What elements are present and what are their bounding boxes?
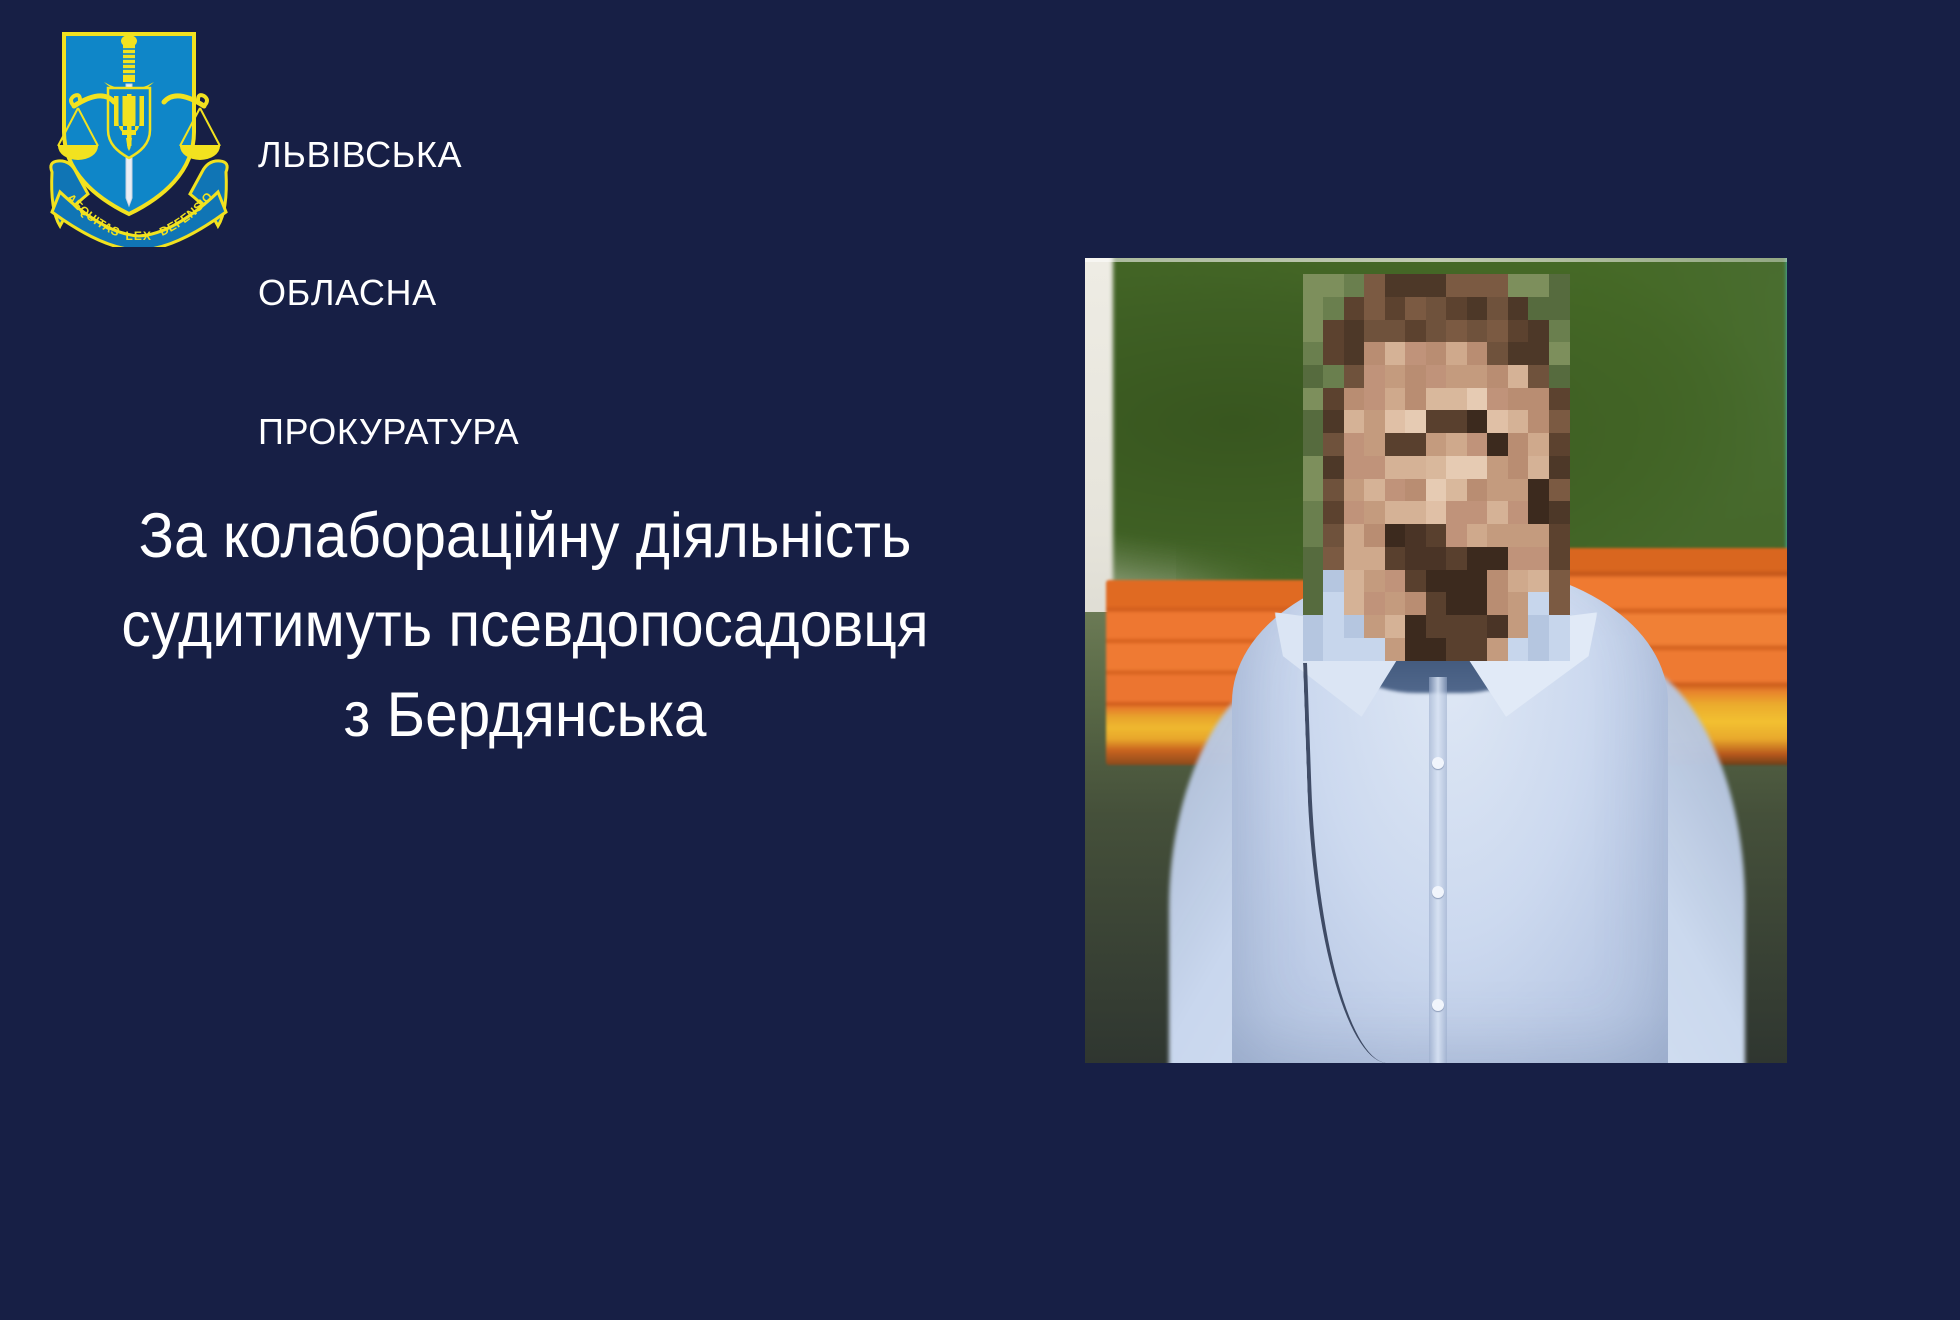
photo-pixel-block — [1364, 524, 1385, 547]
photo-pixel-block — [1364, 570, 1385, 593]
photo-pixel-block — [1303, 615, 1324, 638]
photo-pixel-block — [1385, 592, 1406, 615]
photo-pixel-block — [1303, 388, 1324, 411]
photo-pixel-block — [1344, 638, 1365, 661]
photo-pixel-block — [1508, 388, 1529, 411]
photo-pixel-block — [1426, 479, 1447, 502]
photo-pixel-block — [1528, 388, 1549, 411]
photo-pixel-block — [1385, 456, 1406, 479]
photo-pixel-block — [1549, 479, 1570, 502]
news-card-poster: AEQUITAS DEFENSIO LEX ЛЬВІВСЬКА ОБЛАСНА … — [0, 0, 1960, 1320]
photo-pixel-block — [1323, 501, 1344, 524]
photo-pixel-block — [1303, 320, 1324, 343]
photo-top-edge — [1085, 258, 1787, 262]
photo-pixel-block — [1405, 524, 1426, 547]
photo-pixel-block — [1467, 615, 1488, 638]
photo-pixel-block — [1446, 342, 1467, 365]
photo-pixel-block — [1344, 320, 1365, 343]
photo-pixel-block — [1446, 388, 1467, 411]
photo-pixel-block — [1385, 410, 1406, 433]
photo-pixel-block — [1487, 479, 1508, 502]
photo-pixel-block — [1487, 524, 1508, 547]
photo-pixel-block — [1303, 297, 1324, 320]
photo-pixel-block — [1364, 297, 1385, 320]
photo-pixel-block — [1426, 547, 1447, 570]
photo-pixel-block — [1549, 297, 1570, 320]
photo-pixel-block — [1549, 274, 1570, 297]
photo-pixel-block — [1344, 592, 1365, 615]
photo-pixel-block — [1344, 479, 1365, 502]
photo-pixel-block — [1323, 388, 1344, 411]
photo-pixel-block — [1426, 638, 1447, 661]
photo-pixel-block — [1487, 638, 1508, 661]
headline-line-1: За колабораційну діяльність — [102, 492, 948, 581]
photo-pixel-block — [1426, 320, 1447, 343]
photo-pixel-block — [1549, 638, 1570, 661]
photo-pixel-block — [1344, 365, 1365, 388]
photo-pixel-block — [1323, 615, 1344, 638]
photo-pixel-block — [1385, 615, 1406, 638]
photo-pixel-block — [1467, 410, 1488, 433]
photo-pixel-block — [1303, 365, 1324, 388]
photo-pixel-block — [1467, 365, 1488, 388]
photo-pixel-block — [1385, 274, 1406, 297]
photo-pixel-block — [1323, 570, 1344, 593]
photo-pixel-block — [1303, 479, 1324, 502]
photo-pixel-block — [1385, 365, 1406, 388]
photo-pixel-block — [1467, 297, 1488, 320]
photo-pixel-block — [1405, 592, 1426, 615]
photo-pixel-block — [1528, 592, 1549, 615]
photo-pixel-block — [1426, 274, 1447, 297]
brand-title-line-1: ЛЬВІВСЬКА — [258, 132, 519, 178]
photo-pixel-block — [1446, 592, 1467, 615]
photo-pixel-block — [1405, 297, 1426, 320]
photo-pixel-block — [1528, 524, 1549, 547]
photo-pixel-block — [1364, 365, 1385, 388]
photo-pixel-block — [1508, 342, 1529, 365]
photo-pixel-block — [1549, 365, 1570, 388]
photo-pixel-block — [1528, 410, 1549, 433]
photo-pixel-block — [1344, 410, 1365, 433]
photo-pixel-block — [1303, 410, 1324, 433]
photo-pixel-block — [1344, 524, 1365, 547]
photo-pixel-block — [1549, 456, 1570, 479]
photo-pixel-block — [1364, 638, 1385, 661]
photo-pixel-block — [1487, 410, 1508, 433]
photo-pixel-block — [1323, 342, 1344, 365]
photo-pixel-block — [1344, 388, 1365, 411]
photo-pixel-block — [1385, 501, 1406, 524]
photo-pixel-block — [1467, 501, 1488, 524]
photo-pixel-block — [1467, 479, 1488, 502]
photo-pixel-block — [1405, 501, 1426, 524]
headline-line-2: судитимуть псевдопосадовця — [102, 581, 948, 670]
photo-pixel-block — [1303, 638, 1324, 661]
photo-pixel-block — [1549, 570, 1570, 593]
photo-pixel-block — [1344, 615, 1365, 638]
photo-pixel-block — [1344, 501, 1365, 524]
photo-pixel-block — [1549, 524, 1570, 547]
photo-pixel-block — [1405, 456, 1426, 479]
photo-pixel-block — [1344, 433, 1365, 456]
photo-pixel-block — [1508, 547, 1529, 570]
photo-pixel-block — [1508, 320, 1529, 343]
photo-pixel-block — [1364, 615, 1385, 638]
photo-pixel-block — [1549, 501, 1570, 524]
photo-pixel-block — [1323, 365, 1344, 388]
photo-pixel-block — [1487, 320, 1508, 343]
photo-pixel-block — [1467, 547, 1488, 570]
photo-pixel-block — [1323, 320, 1344, 343]
photo-pixel-block — [1528, 615, 1549, 638]
photo-pixel-block — [1323, 410, 1344, 433]
photo-pixel-block — [1344, 342, 1365, 365]
photo-pixel-block — [1549, 410, 1570, 433]
photo-pixel-block — [1487, 615, 1508, 638]
photo-pixel-block — [1487, 501, 1508, 524]
photo-pixel-block — [1487, 365, 1508, 388]
photo-pixel-block — [1426, 501, 1447, 524]
photo-pixel-block — [1385, 342, 1406, 365]
photo-pixel-block — [1467, 592, 1488, 615]
photo-pixel-block — [1446, 456, 1467, 479]
photo-pixel-block — [1528, 297, 1549, 320]
photo-pixel-block — [1364, 388, 1385, 411]
photo-shirt-button — [1432, 999, 1444, 1011]
photo-shirt-button — [1432, 757, 1444, 769]
photo-pixel-block — [1323, 479, 1344, 502]
photo-pixel-block — [1528, 456, 1549, 479]
photo-pixel-block — [1549, 342, 1570, 365]
photo-pixel-block — [1385, 297, 1406, 320]
photo-pixel-block — [1344, 297, 1365, 320]
photo-pixel-block — [1487, 570, 1508, 593]
photo-pixel-block — [1405, 365, 1426, 388]
photo-pixel-block — [1303, 501, 1324, 524]
photo-pixel-block — [1508, 433, 1529, 456]
photo-pixel-block — [1426, 570, 1447, 593]
photo-pixel-block — [1303, 342, 1324, 365]
photo-pixel-block — [1426, 524, 1447, 547]
photo-pixel-block — [1344, 274, 1365, 297]
svg-text:LEX: LEX — [126, 229, 152, 243]
photo-pixel-block — [1303, 274, 1324, 297]
photo-pixel-block — [1528, 479, 1549, 502]
photo-pixel-block — [1467, 388, 1488, 411]
photo-pixel-block — [1323, 433, 1344, 456]
photo-pixel-block — [1467, 524, 1488, 547]
photo-pixel-block — [1508, 297, 1529, 320]
photo-pixel-block — [1446, 297, 1467, 320]
prosecutor-office-emblem-icon: AEQUITAS DEFENSIO LEX — [44, 22, 234, 247]
photo-pixel-block — [1323, 547, 1344, 570]
photo-pixel-block — [1364, 274, 1385, 297]
photo-pixel-block — [1405, 479, 1426, 502]
photo-pixel-block — [1508, 365, 1529, 388]
photo-pixel-block — [1446, 638, 1467, 661]
photo-pixel-block — [1446, 479, 1467, 502]
photo-pixel-block — [1303, 433, 1324, 456]
photo-pixel-block — [1549, 320, 1570, 343]
photo-pixel-block — [1549, 547, 1570, 570]
photo-pixel-block — [1426, 615, 1447, 638]
photo-pixel-block — [1487, 388, 1508, 411]
photo-pixel-block — [1528, 365, 1549, 388]
photo-pixel-block — [1303, 547, 1324, 570]
photo-pixel-block — [1446, 410, 1467, 433]
brand-title: ЛЬВІВСЬКА ОБЛАСНА ПРОКУРАТУРА — [258, 40, 519, 547]
photo-pixel-block — [1385, 570, 1406, 593]
photo-pixel-block — [1426, 410, 1447, 433]
photo-pixel-block — [1528, 638, 1549, 661]
photo-pixel-block — [1508, 592, 1529, 615]
photo-pixel-block — [1364, 479, 1385, 502]
photo-pixel-block — [1528, 274, 1549, 297]
photo-pixel-block — [1446, 365, 1467, 388]
photo-pixel-block — [1467, 274, 1488, 297]
photo-pixel-block — [1528, 342, 1549, 365]
photo-pixel-block — [1323, 524, 1344, 547]
photo-pixel-block — [1487, 456, 1508, 479]
photo-pixel-block — [1426, 456, 1447, 479]
photo-pixel-block — [1446, 501, 1467, 524]
photo-pixel-block — [1446, 320, 1467, 343]
photo-pixel-block — [1323, 297, 1344, 320]
photo-pixel-block — [1549, 615, 1570, 638]
photo-pixel-block — [1405, 433, 1426, 456]
photo-pixel-block — [1446, 547, 1467, 570]
photo-pixel-block — [1364, 547, 1385, 570]
photo-pixel-block — [1487, 274, 1508, 297]
photo-pixel-block — [1467, 433, 1488, 456]
photo-pixel-block — [1508, 501, 1529, 524]
photo-pixel-block — [1528, 501, 1549, 524]
photo-pixel-block — [1385, 547, 1406, 570]
photo-pixel-block — [1508, 570, 1529, 593]
photo-pixel-block — [1385, 433, 1406, 456]
photo-pixel-block — [1364, 433, 1385, 456]
photo-pixel-block — [1426, 592, 1447, 615]
photo-face-pixelation-mask — [1303, 274, 1570, 660]
photo-pixel-block — [1303, 524, 1324, 547]
emblem-motto-center: LEX — [126, 229, 152, 243]
photo-pixel-block — [1528, 570, 1549, 593]
photo-pixel-block — [1446, 570, 1467, 593]
photo-pixel-block — [1446, 274, 1467, 297]
photo-pixel-block — [1323, 592, 1344, 615]
photo-pixel-block — [1467, 456, 1488, 479]
photo-pixel-block — [1549, 433, 1570, 456]
photo-pixel-block — [1508, 615, 1529, 638]
photo-pixel-block — [1303, 592, 1324, 615]
photo-pixel-block — [1405, 320, 1426, 343]
photo-pixel-block — [1405, 615, 1426, 638]
photo-pixel-block — [1405, 274, 1426, 297]
photo-pixel-block — [1446, 524, 1467, 547]
photo-pixel-block — [1385, 388, 1406, 411]
photo-pixel-block — [1344, 570, 1365, 593]
photo-pixel-block — [1323, 456, 1344, 479]
photo-pixel-block — [1549, 592, 1570, 615]
photo-pixel-block — [1385, 524, 1406, 547]
photo-pixel-block — [1426, 365, 1447, 388]
photo-pixel-block — [1508, 524, 1529, 547]
photo-pixel-block — [1426, 388, 1447, 411]
photo-pixel-block — [1487, 592, 1508, 615]
photo-pixel-block — [1385, 479, 1406, 502]
photo-pixel-block — [1487, 342, 1508, 365]
brand-title-line-3: ПРОКУРАТУРА — [258, 409, 519, 455]
photo-pixel-block — [1405, 410, 1426, 433]
photo-pixel-block — [1405, 570, 1426, 593]
photo-pixel-block — [1487, 547, 1508, 570]
photo-pixel-block — [1364, 320, 1385, 343]
subject-photo — [1085, 258, 1787, 1063]
photo-pixel-block — [1344, 547, 1365, 570]
photo-pixel-block — [1364, 342, 1385, 365]
photo-pixel-block — [1528, 433, 1549, 456]
headline-line-3: з Бердянська — [102, 671, 948, 760]
photo-pixel-block — [1364, 592, 1385, 615]
photo-pixel-block — [1528, 320, 1549, 343]
photo-pixel-block — [1303, 456, 1324, 479]
photo-pixel-block — [1508, 274, 1529, 297]
photo-pixel-block — [1426, 433, 1447, 456]
photo-pixel-block — [1446, 433, 1467, 456]
photo-pixel-block — [1487, 433, 1508, 456]
photo-pixel-block — [1385, 320, 1406, 343]
photo-pixel-block — [1426, 342, 1447, 365]
photo-pixel-block — [1344, 456, 1365, 479]
photo-pixel-block — [1364, 501, 1385, 524]
photo-pixel-block — [1508, 479, 1529, 502]
photo-pixel-block — [1508, 638, 1529, 661]
photo-pixel-block — [1385, 638, 1406, 661]
photo-pixel-block — [1467, 342, 1488, 365]
brand-block: AEQUITAS DEFENSIO LEX ЛЬВІВСЬКА ОБЛАСНА … — [44, 22, 519, 547]
photo-pixel-block — [1405, 388, 1426, 411]
photo-pixel-block — [1487, 297, 1508, 320]
photo-pixel-block — [1528, 547, 1549, 570]
photo-pixel-block — [1467, 320, 1488, 343]
photo-pixel-block — [1323, 638, 1344, 661]
photo-pixel-block — [1303, 570, 1324, 593]
photo-shirt-button — [1432, 886, 1444, 898]
photo-pixel-block — [1446, 615, 1467, 638]
brand-title-line-2: ОБЛАСНА — [258, 270, 519, 316]
photo-pixel-block — [1405, 547, 1426, 570]
photo-pixel-block — [1405, 342, 1426, 365]
photo-pixel-block — [1467, 570, 1488, 593]
photo-pixel-block — [1508, 410, 1529, 433]
photo-pixel-block — [1549, 388, 1570, 411]
photo-pixel-block — [1364, 410, 1385, 433]
photo-pixel-block — [1426, 297, 1447, 320]
photo-pixel-block — [1508, 456, 1529, 479]
photo-pixel-block — [1405, 638, 1426, 661]
photo-pixel-block — [1323, 274, 1344, 297]
photo-pixel-block — [1467, 638, 1488, 661]
headline: За колабораційну діяльність судитимуть п… — [102, 492, 948, 760]
photo-pixel-block — [1364, 456, 1385, 479]
